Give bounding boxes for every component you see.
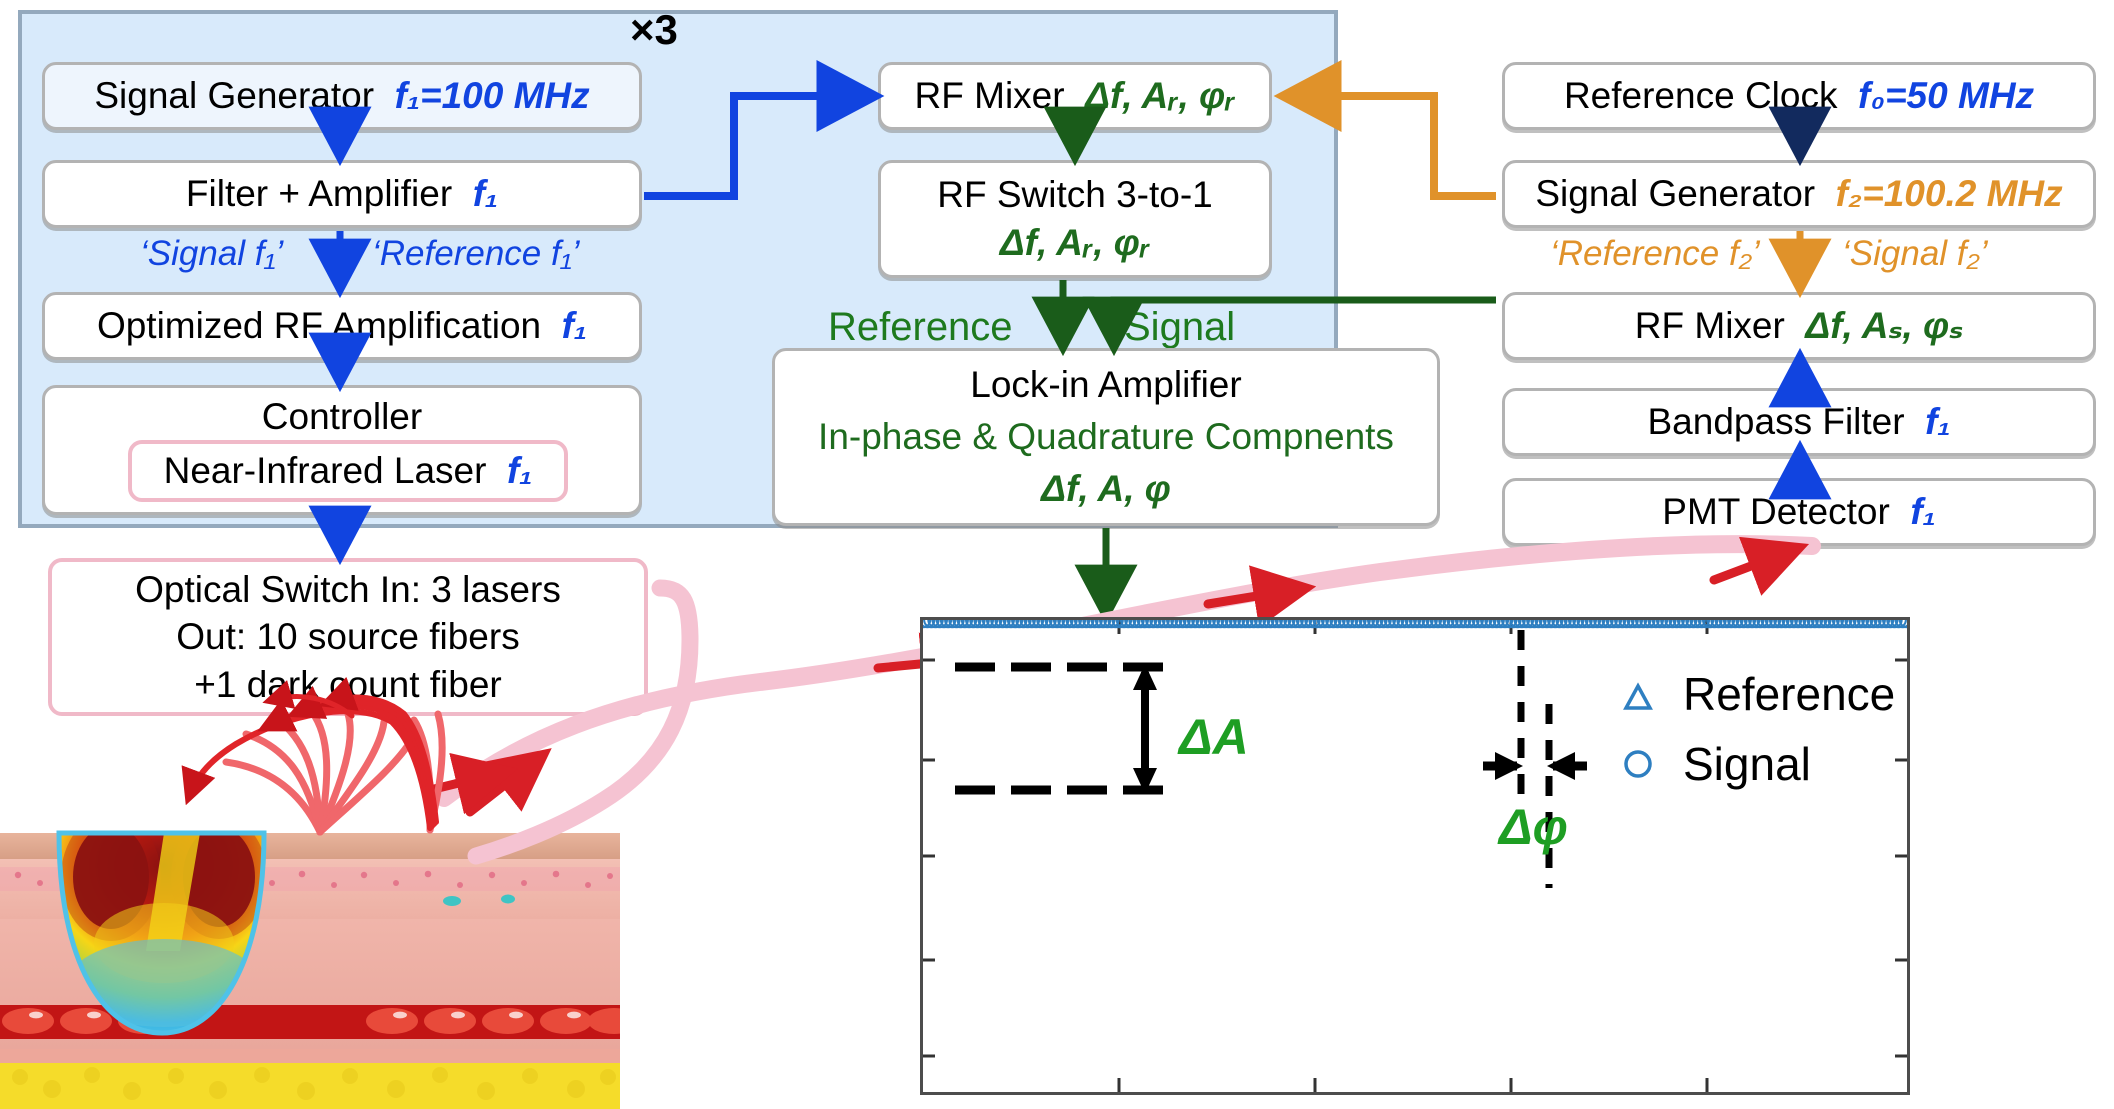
optical-switch-line-2: Out: 10 source fibers — [176, 613, 519, 660]
edge-label-signal: Signal — [1124, 305, 1235, 350]
controller-label: Controller — [262, 396, 422, 437]
block-label: Near-Infrared Laser f₁ — [164, 450, 533, 491]
block-near-infrared-laser[interactable]: Near-Infrared Laser f₁ — [128, 440, 568, 502]
edge-label-reference: Reference — [828, 305, 1013, 350]
lockin-components: In-phase & Quadrature Compnents — [818, 411, 1394, 463]
optical-switch-line-3: +1 dark count fiber — [194, 661, 502, 708]
lockin-name: Lock-in Amplifier — [970, 359, 1241, 411]
block-lockin-amplifier[interactable]: Lock-in Amplifier In-phase & Quadrature … — [772, 348, 1440, 526]
lockin-waveform-plot: Reference Signal ΔA Δφ — [920, 617, 1910, 1095]
block-label: Reference Clock f₀=50 MHz — [1564, 75, 2034, 116]
plot-legend: Reference Signal — [1626, 668, 1895, 790]
panel-multiplier-label: ×3 — [630, 6, 678, 54]
legend-marker-signal — [1626, 752, 1650, 776]
lockin-param: Δf, A, φ — [1041, 463, 1171, 515]
edge-label-signal-f2: ‘Signal f₂’ — [1842, 234, 1988, 274]
legend-label-signal: Signal — [1683, 738, 1811, 790]
annotation-label-delta-phi: Δφ — [1499, 798, 1568, 856]
block-optical-switch[interactable]: Optical Switch In: 3 lasers Out: 10 sour… — [48, 558, 648, 716]
annotation-label-delta-a: ΔA — [1179, 708, 1249, 766]
series-signal-markers — [923, 620, 1907, 627]
block-filter-amplifier[interactable]: Filter + Amplifier f₁ — [42, 160, 642, 228]
block-label: Signal Generator f₁=100 MHz — [94, 75, 589, 116]
rf-switch-name: RF Switch 3-to-1 — [937, 171, 1213, 219]
block-label: Filter + Amplifier f₁ — [186, 173, 498, 214]
diagram-canvas: ×3 Signal Generator f₁=100 MHz Filter + … — [0, 0, 2114, 1109]
annotation-delta-amplitude — [955, 664, 1163, 794]
block-label: Optimized RF Amplification f₁ — [97, 305, 587, 346]
block-optimized-rf-amplification[interactable]: Optimized RF Amplification f₁ — [42, 292, 642, 360]
block-rf-switch[interactable]: RF Switch 3-to-1 Δf, Aᵣ, φᵣ — [878, 160, 1272, 278]
block-label: PMT Detector f₁ — [1662, 491, 1935, 532]
legend-label-reference: Reference — [1683, 668, 1895, 720]
block-label: Signal Generator f₂=100.2 MHz — [1535, 173, 2062, 214]
edge-label-signal-f1: ‘Signal f₁’ — [140, 234, 283, 274]
block-pmt-detector[interactable]: PMT Detector f₁ — [1502, 478, 2096, 546]
block-label: Bandpass Filter f₁ — [1648, 401, 1951, 442]
block-reference-clock[interactable]: Reference Clock f₀=50 MHz — [1502, 62, 2096, 130]
legend-marker-reference — [1626, 686, 1650, 708]
block-signal-generator-1[interactable]: Signal Generator f₁=100 MHz — [42, 62, 642, 130]
block-signal-generator-2[interactable]: Signal Generator f₂=100.2 MHz — [1502, 160, 2096, 228]
edge-label-reference-f2: ‘Reference f₂’ — [1550, 234, 1760, 274]
block-label: RF Mixer Δf, Aᵣ, φᵣ — [915, 75, 1236, 116]
block-rf-mixer-signal[interactable]: RF Mixer Δf, Aₛ, φₛ — [1502, 292, 2096, 360]
block-bandpass-filter[interactable]: Bandpass Filter f₁ — [1502, 388, 2096, 456]
optical-switch-line-1: Optical Switch In: 3 lasers — [135, 566, 561, 613]
block-rf-mixer-reference[interactable]: RF Mixer Δf, Aᵣ, φᵣ — [878, 62, 1272, 130]
rf-switch-param: Δf, Aᵣ, φᵣ — [1000, 219, 1150, 267]
edge-label-reference-f1: ‘Reference f₁’ — [372, 234, 580, 274]
block-label: RF Mixer Δf, Aₛ, φₛ — [1635, 305, 1963, 346]
tissue-cross-section-illustration — [0, 805, 620, 1109]
